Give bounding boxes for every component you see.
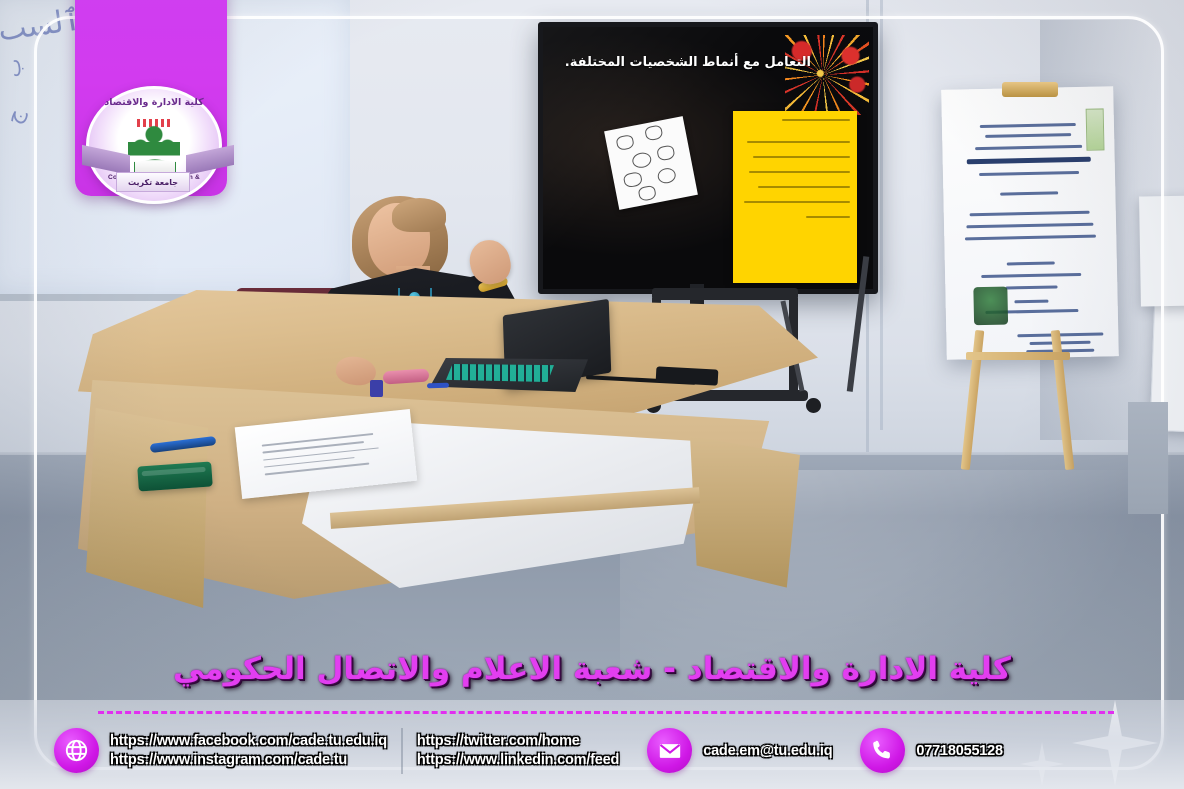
poster-clip [1002,82,1058,97]
envelope-icon[interactable] [647,728,692,773]
seal-book-icon [128,121,180,173]
frame-gap [1128,402,1168,514]
twitter-link[interactable]: https://twitter.com/home [417,733,619,749]
dashed-divider [98,711,1114,714]
contact-footer: https://www.facebook.com/cade.tu.edu.iq … [0,700,1184,789]
linkedin-link[interactable]: https://www.linkedin.com/feed [417,752,619,768]
facebook-link[interactable]: https://www.facebook.com/cade.tu.edu.iq [110,733,387,749]
globe-icon[interactable] [54,728,99,773]
footer-group-networks: https://twitter.com/home https://www.lin… [403,725,633,777]
footer-group-social: https://www.facebook.com/cade.tu.edu.iq … [40,725,401,777]
seal-ribbon-center: جامعة تكريت [116,172,190,192]
phone-icon[interactable] [860,728,905,773]
instagram-link[interactable]: https://www.instagram.com/cade.tu [110,752,387,768]
email-link[interactable]: cade.em@tu.edu.iq [703,743,832,759]
footer-group-phone: 07718055128 [846,725,1017,777]
footer-group-email: cade.em@tu.edu.iq [633,725,846,777]
phone-number: 07718055128 [916,743,1003,759]
seal-arabic-text: كلية الادارة والاقتصاد [89,97,219,108]
university-name: جامعة تكريت [128,178,178,187]
poster-canvas: ٱلسٮ ب ج التعامل مع أنماط الشخصيات المخت… [0,0,1184,789]
